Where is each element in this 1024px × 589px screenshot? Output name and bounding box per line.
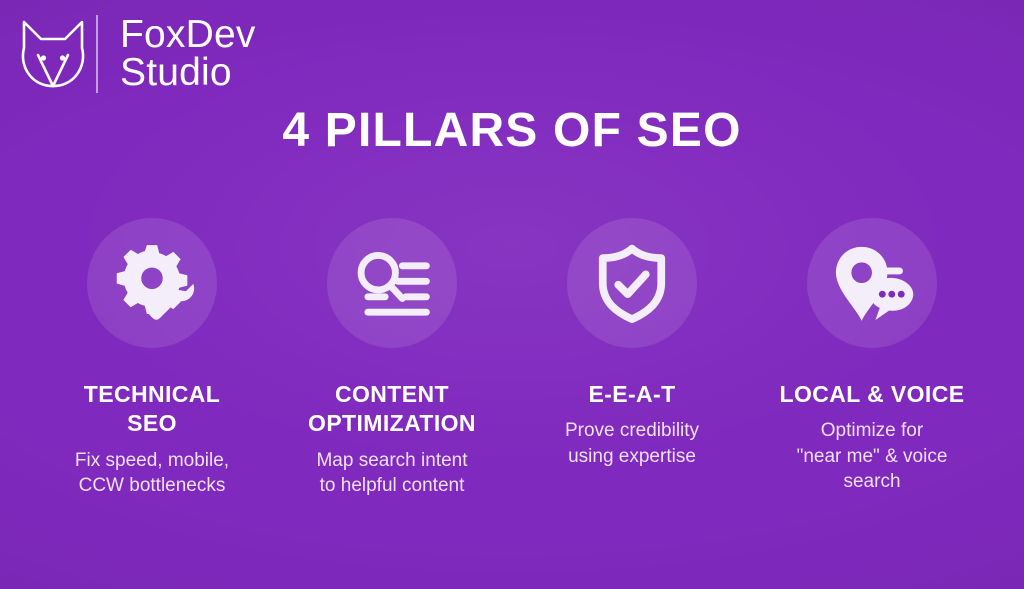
pillar-title: TECHNICAL SEO	[84, 380, 220, 439]
chat-dots-icon	[879, 291, 905, 298]
pillar-icon-circle	[327, 218, 457, 348]
pillar-title: LOCAL & VOICE	[780, 380, 965, 409]
map-pin-chat-icon	[829, 240, 915, 326]
pillar-description: Prove credibility using expertise	[565, 418, 699, 469]
text-bar-5	[364, 309, 429, 316]
pillar-local-voice[interactable]: LOCAL & VOICE Optimize for "near me" & v…	[756, 218, 988, 498]
pillar-content-optimization[interactable]: CONTENT OPTIMIZATION Map search intent t…	[276, 218, 508, 498]
pillar-eeat[interactable]: E-E-A-T Prove credibility using expertis…	[516, 218, 748, 498]
magnifier-document-icon	[349, 240, 435, 326]
pillar-description: Map search intent to helpful content	[316, 448, 467, 499]
pillar-title: E-E-A-T	[588, 380, 675, 409]
pillar-title: CONTENT OPTIMIZATION	[308, 380, 476, 439]
pillar-icon-circle	[807, 218, 937, 348]
pillar-icon-circle	[567, 218, 697, 348]
brand-logo[interactable]: FoxDev Studio	[18, 14, 256, 94]
shield-check-icon	[589, 240, 675, 326]
brand-name: FoxDev Studio	[120, 16, 256, 92]
gear-wrench-icon	[109, 240, 195, 326]
pillar-icon-circle	[87, 218, 217, 348]
chat-bar-icon	[882, 268, 903, 275]
text-bar-2	[395, 278, 430, 285]
fox-head-icon	[18, 14, 88, 94]
text-bar-4	[402, 293, 430, 300]
pillar-description: Fix speed, mobile, CCW bottlenecks	[75, 448, 229, 499]
fox-eye-left	[41, 55, 46, 60]
page-title: 4 PILLARS OF SEO	[0, 103, 1024, 158]
text-bar-1	[399, 262, 430, 269]
fox-eye-right	[60, 55, 65, 60]
pillars-row: TECHNICAL SEO Fix speed, mobile, CCW bot…	[36, 218, 988, 498]
text-bar-3	[364, 293, 388, 300]
pillar-technical-seo[interactable]: TECHNICAL SEO Fix speed, mobile, CCW bot…	[36, 218, 268, 498]
brand-divider	[96, 15, 98, 93]
pillar-description: Optimize for "near me" & voice search	[797, 418, 948, 494]
